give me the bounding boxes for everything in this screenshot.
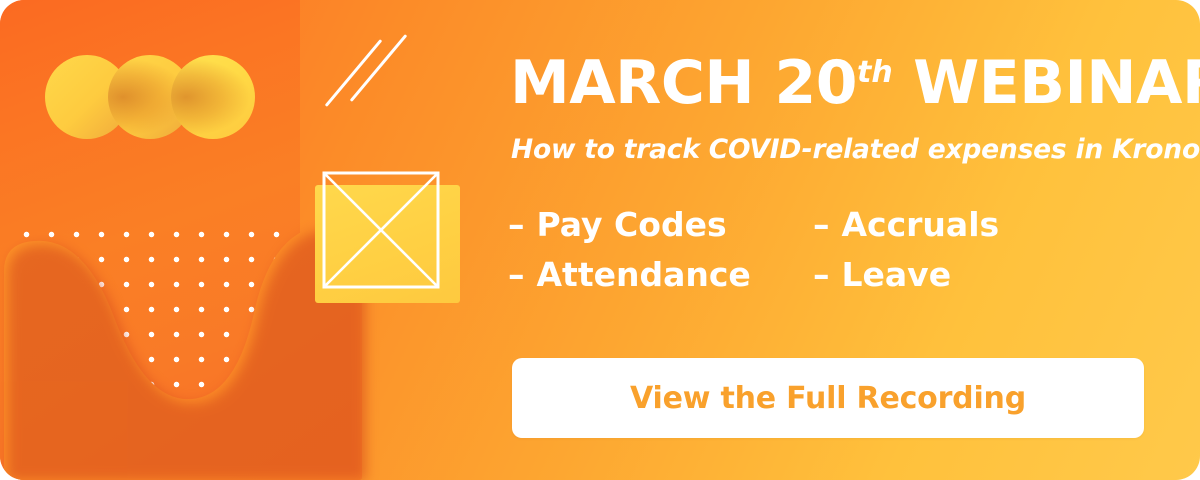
- circle-overlap-shadow-2: [171, 55, 255, 139]
- list-item: –Attendance: [508, 250, 813, 300]
- outlined-square-with-x-icon: [322, 171, 440, 289]
- list-item-label: Attendance: [537, 255, 751, 294]
- list-item-label: Pay Codes: [537, 205, 727, 244]
- cta-button-label: View the Full Recording: [630, 381, 1026, 416]
- bullet-dash-icon: –: [508, 200, 525, 250]
- bullet-dash-icon: –: [508, 250, 525, 300]
- headline-tail: WEBINAR: [893, 48, 1200, 118]
- three-circles-graphic: [0, 0, 300, 200]
- headline-main: MARCH 20: [510, 48, 857, 118]
- banner-content: MARCH 20th WEBINAR How to track COVID-re…: [500, 0, 1200, 480]
- list-item-label: Leave: [842, 255, 952, 294]
- list-item: –Leave: [813, 250, 951, 300]
- list-item: –Accruals: [813, 200, 999, 250]
- view-full-recording-button[interactable]: View the Full Recording: [512, 358, 1144, 438]
- topic-row-1: –Pay Codes –Accruals: [508, 200, 1068, 250]
- bullet-dash-icon: –: [813, 200, 830, 250]
- topic-row-2: –Attendance –Leave: [508, 250, 1068, 300]
- page-title: MARCH 20th WEBINAR: [510, 53, 1200, 113]
- headline-superscript: th: [857, 55, 893, 90]
- topic-list: –Pay Codes –Accruals –Attendance –Leave: [508, 200, 1068, 300]
- bullet-dash-icon: –: [813, 250, 830, 300]
- list-item: –Pay Codes: [508, 200, 813, 250]
- list-item-label: Accruals: [842, 205, 1000, 244]
- webinar-promo-banner: MARCH 20th WEBINAR How to track COVID-re…: [0, 0, 1200, 480]
- subtitle: How to track COVID-related expenses in K…: [511, 134, 1200, 165]
